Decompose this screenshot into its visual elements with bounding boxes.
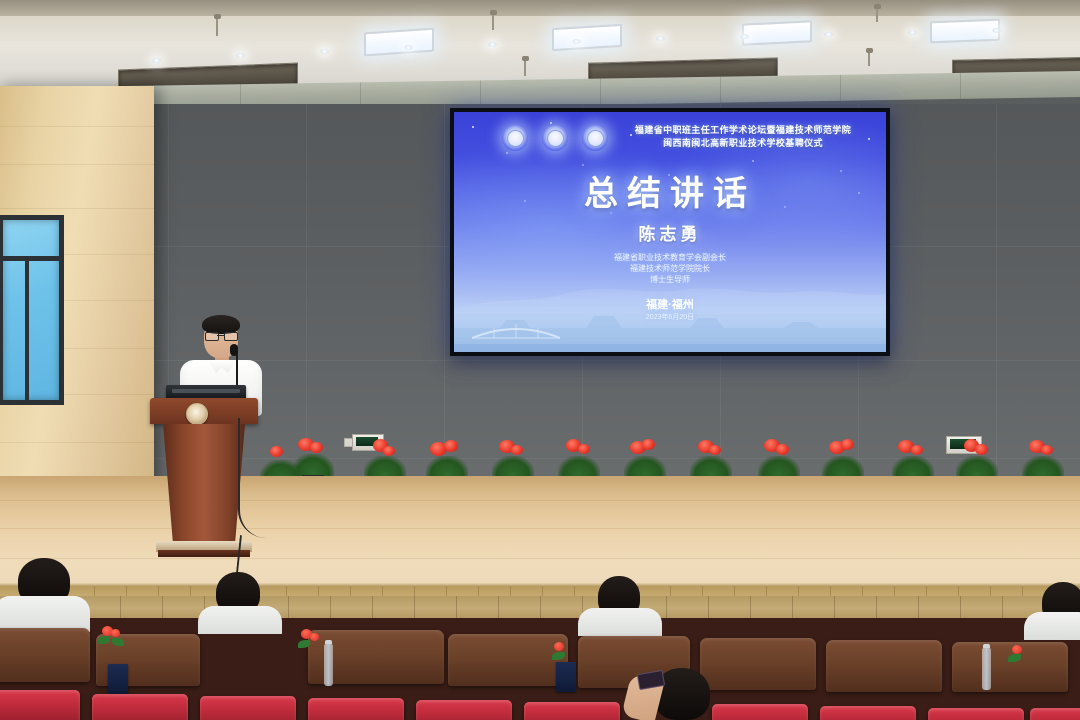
water-bottle-cap <box>983 644 990 648</box>
front-row-seat[interactable] <box>308 698 404 720</box>
ceiling-pendant-rod <box>524 56 526 76</box>
desk-flower-arrangement <box>96 622 126 648</box>
screen-speaker-name: 陈志勇 <box>454 224 886 246</box>
school-emblem-3-icon <box>582 125 608 151</box>
ceiling-downlight <box>824 32 833 37</box>
attendee-shoulders <box>198 606 282 634</box>
water-bottle <box>982 648 991 690</box>
water-bottle-cap <box>325 640 332 644</box>
led-display-screen[interactable]: 福建省中职班主任工作学术论坛暨福建技术师范学院 闽西南闽北高新职业技术学校基聘仪… <box>450 108 890 356</box>
school-emblem-2-icon <box>542 125 568 151</box>
ceiling-downlight <box>320 49 329 54</box>
podium-emblem-icon <box>186 403 208 425</box>
ceiling-downlight <box>488 42 497 47</box>
ceiling-panel-light <box>552 24 622 51</box>
ceiling-pendant-rod <box>876 4 878 22</box>
front-row-seat[interactable] <box>928 708 1024 720</box>
ceiling-downlight <box>152 58 161 63</box>
desk-flower-arrangement <box>296 626 326 652</box>
left-wall-window <box>0 215 64 405</box>
front-row-seat[interactable] <box>92 694 188 720</box>
screen-footer-block: 福建·福州 2023年6月20日 <box>454 298 886 323</box>
ceiling-panel-light <box>742 20 812 45</box>
attendee-shoulders <box>0 596 90 632</box>
front-row-seat[interactable] <box>0 690 80 720</box>
screen-header-line-1: 福建省中职班主任工作学术论坛暨福建技术师范学院 <box>618 124 868 137</box>
front-row-seat[interactable] <box>416 700 512 720</box>
audience-seat-back[interactable] <box>700 638 816 690</box>
podium-cable <box>238 418 266 538</box>
ceiling-downlight <box>908 30 917 35</box>
front-row-seat[interactable] <box>712 704 808 720</box>
front-row-seat[interactable] <box>820 706 916 720</box>
screen-subtitle-block: 福建省职业技术教育学会副会长 福建技术师范学院院长 博士生导师 <box>454 252 886 285</box>
ceiling-downlight <box>656 36 665 41</box>
audience-seat-back[interactable] <box>826 640 942 692</box>
podium-body <box>163 424 245 542</box>
ceiling-downlight <box>992 28 1001 33</box>
attendee-shoulders <box>1024 612 1080 640</box>
front-row-seat[interactable] <box>524 702 620 720</box>
ceiling-panel-light <box>364 28 434 57</box>
desk-flower-arrangement <box>1008 644 1038 670</box>
screen-subtitle-line: 福建技术师范学院院长 <box>454 263 886 274</box>
led-screen-content: 福建省中职班主任工作学术论坛暨福建技术师范学院 闽西南闽北高新职业技术学校基聘仪… <box>454 112 886 352</box>
screen-footer-location: 福建·福州 <box>454 298 886 313</box>
ceiling-downlight <box>740 34 749 39</box>
podium-foot <box>158 550 250 557</box>
screen-header-text: 福建省中职班主任工作学术论坛暨福建技术师范学院 闽西南闽北高新职业技术学校基聘仪… <box>618 124 868 150</box>
attendee-shoulders <box>578 608 662 636</box>
ceiling-pendant-rod <box>216 14 218 36</box>
audience-seat-back[interactable] <box>0 628 90 682</box>
front-row-seat[interactable] <box>1030 708 1080 720</box>
ceiling-downlight <box>236 53 245 58</box>
screen-footer-date: 2023年6月20日 <box>454 313 886 323</box>
ceiling-pendant-rod <box>492 10 494 30</box>
water-bottle <box>324 644 333 686</box>
screen-logo-row <box>502 125 608 151</box>
ceiling-panel-light <box>930 19 1000 44</box>
screen-subtitle-line: 福建省职业技术教育学会副会长 <box>454 252 886 263</box>
ceiling-downlight <box>572 39 581 44</box>
name-card <box>556 662 576 692</box>
speaker-glasses-icon <box>205 332 237 339</box>
screen-header-line-2: 闽西南闽北高新职业技术学校基聘仪式 <box>618 137 868 150</box>
microphone-head-icon <box>230 344 238 356</box>
screen-subtitle-line: 博士生导师 <box>454 274 886 285</box>
conference-hall-photo: 福建省中职班主任工作学术论坛暨福建技术师范学院 闽西南闽北高新职业技术学校基聘仪… <box>0 0 1080 720</box>
name-card <box>108 664 128 694</box>
screen-main-title: 总结讲话 <box>454 174 886 214</box>
ceiling-edge-band <box>0 0 1080 16</box>
ceiling-downlight <box>404 45 413 50</box>
ceiling-pendant-rod <box>868 48 870 66</box>
front-row-seat[interactable] <box>200 696 296 720</box>
school-emblem-1-icon <box>502 125 528 151</box>
